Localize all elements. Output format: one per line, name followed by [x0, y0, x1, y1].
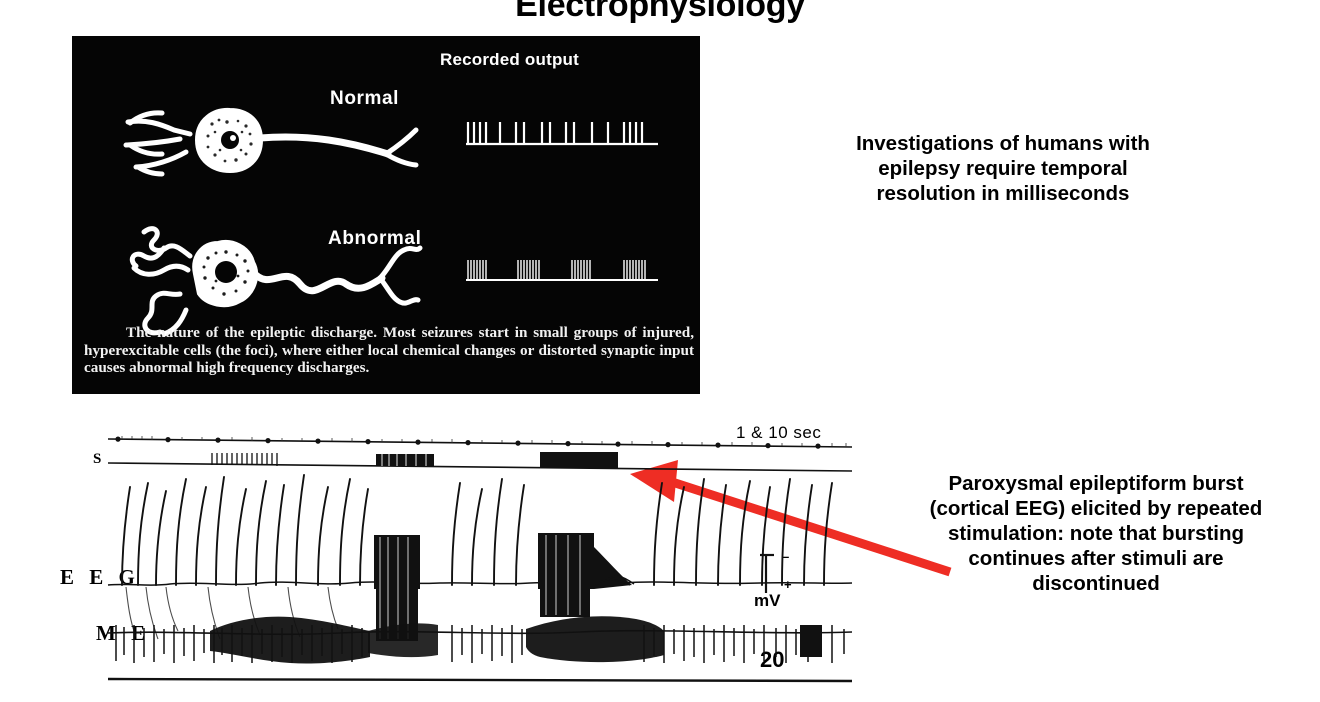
note-temporal-resolution: Investigations of humans with epilepsy r… — [838, 131, 1168, 206]
eeg-traces-plot — [60, 425, 860, 687]
eeg-recording-panel: 1 & 10 sec S E E G M E mV + – 20 — [60, 425, 860, 687]
note-paroxysmal-burst: Paroxysmal epileptiform burst (cortical … — [926, 471, 1266, 596]
figure-caption: The nature of the epileptic discharge. M… — [84, 324, 694, 377]
neuron-figure-panel: Recorded output Normal Abnormal — [72, 36, 700, 394]
abnormal-burst-train-icon — [462, 250, 662, 290]
normal-neuron-icon — [120, 82, 450, 192]
page-title: Electrophysiology — [0, 0, 1320, 25]
normal-spike-train-icon — [462, 114, 662, 154]
recorded-output-label: Recorded output — [440, 50, 579, 70]
slide-canvas: Electrophysiology Recorded output Normal… — [0, 0, 1320, 702]
